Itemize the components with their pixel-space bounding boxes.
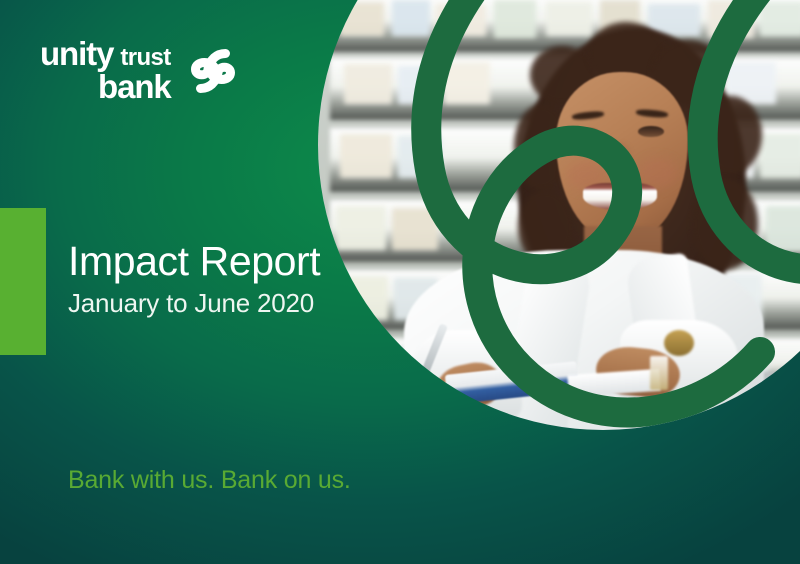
brand-logo[interactable]: unity trust bank [40, 38, 244, 102]
nose [606, 142, 632, 168]
page-title: Impact Report [68, 240, 320, 283]
bracelet [664, 330, 694, 356]
lime-accent-bar [0, 208, 46, 355]
hair-curl [692, 178, 758, 270]
cover-photo-disc [318, 0, 800, 430]
pharmacist-figure [318, 0, 800, 430]
smile [583, 183, 657, 210]
page-subtitle: January to June 2020 [68, 289, 320, 318]
unity-trust-bank-s-mark-icon [182, 40, 244, 102]
brand-tagline: Bank with us. Bank on us. [68, 466, 351, 495]
logo-word-unity: unity [40, 38, 113, 70]
eye [574, 128, 600, 139]
brand-logo-wordmark: unity trust bank [40, 38, 171, 102]
medicine-vial [650, 356, 668, 390]
pharmacy-photo [318, 0, 800, 430]
report-cover-page: unity trust bank Impact Report January t… [0, 0, 800, 564]
logo-word-trust: trust [120, 46, 170, 69]
logo-word-bank: bank [98, 71, 171, 103]
hair-curl [700, 96, 762, 174]
eye [638, 126, 664, 137]
title-block: Impact Report January to June 2020 [68, 240, 320, 318]
